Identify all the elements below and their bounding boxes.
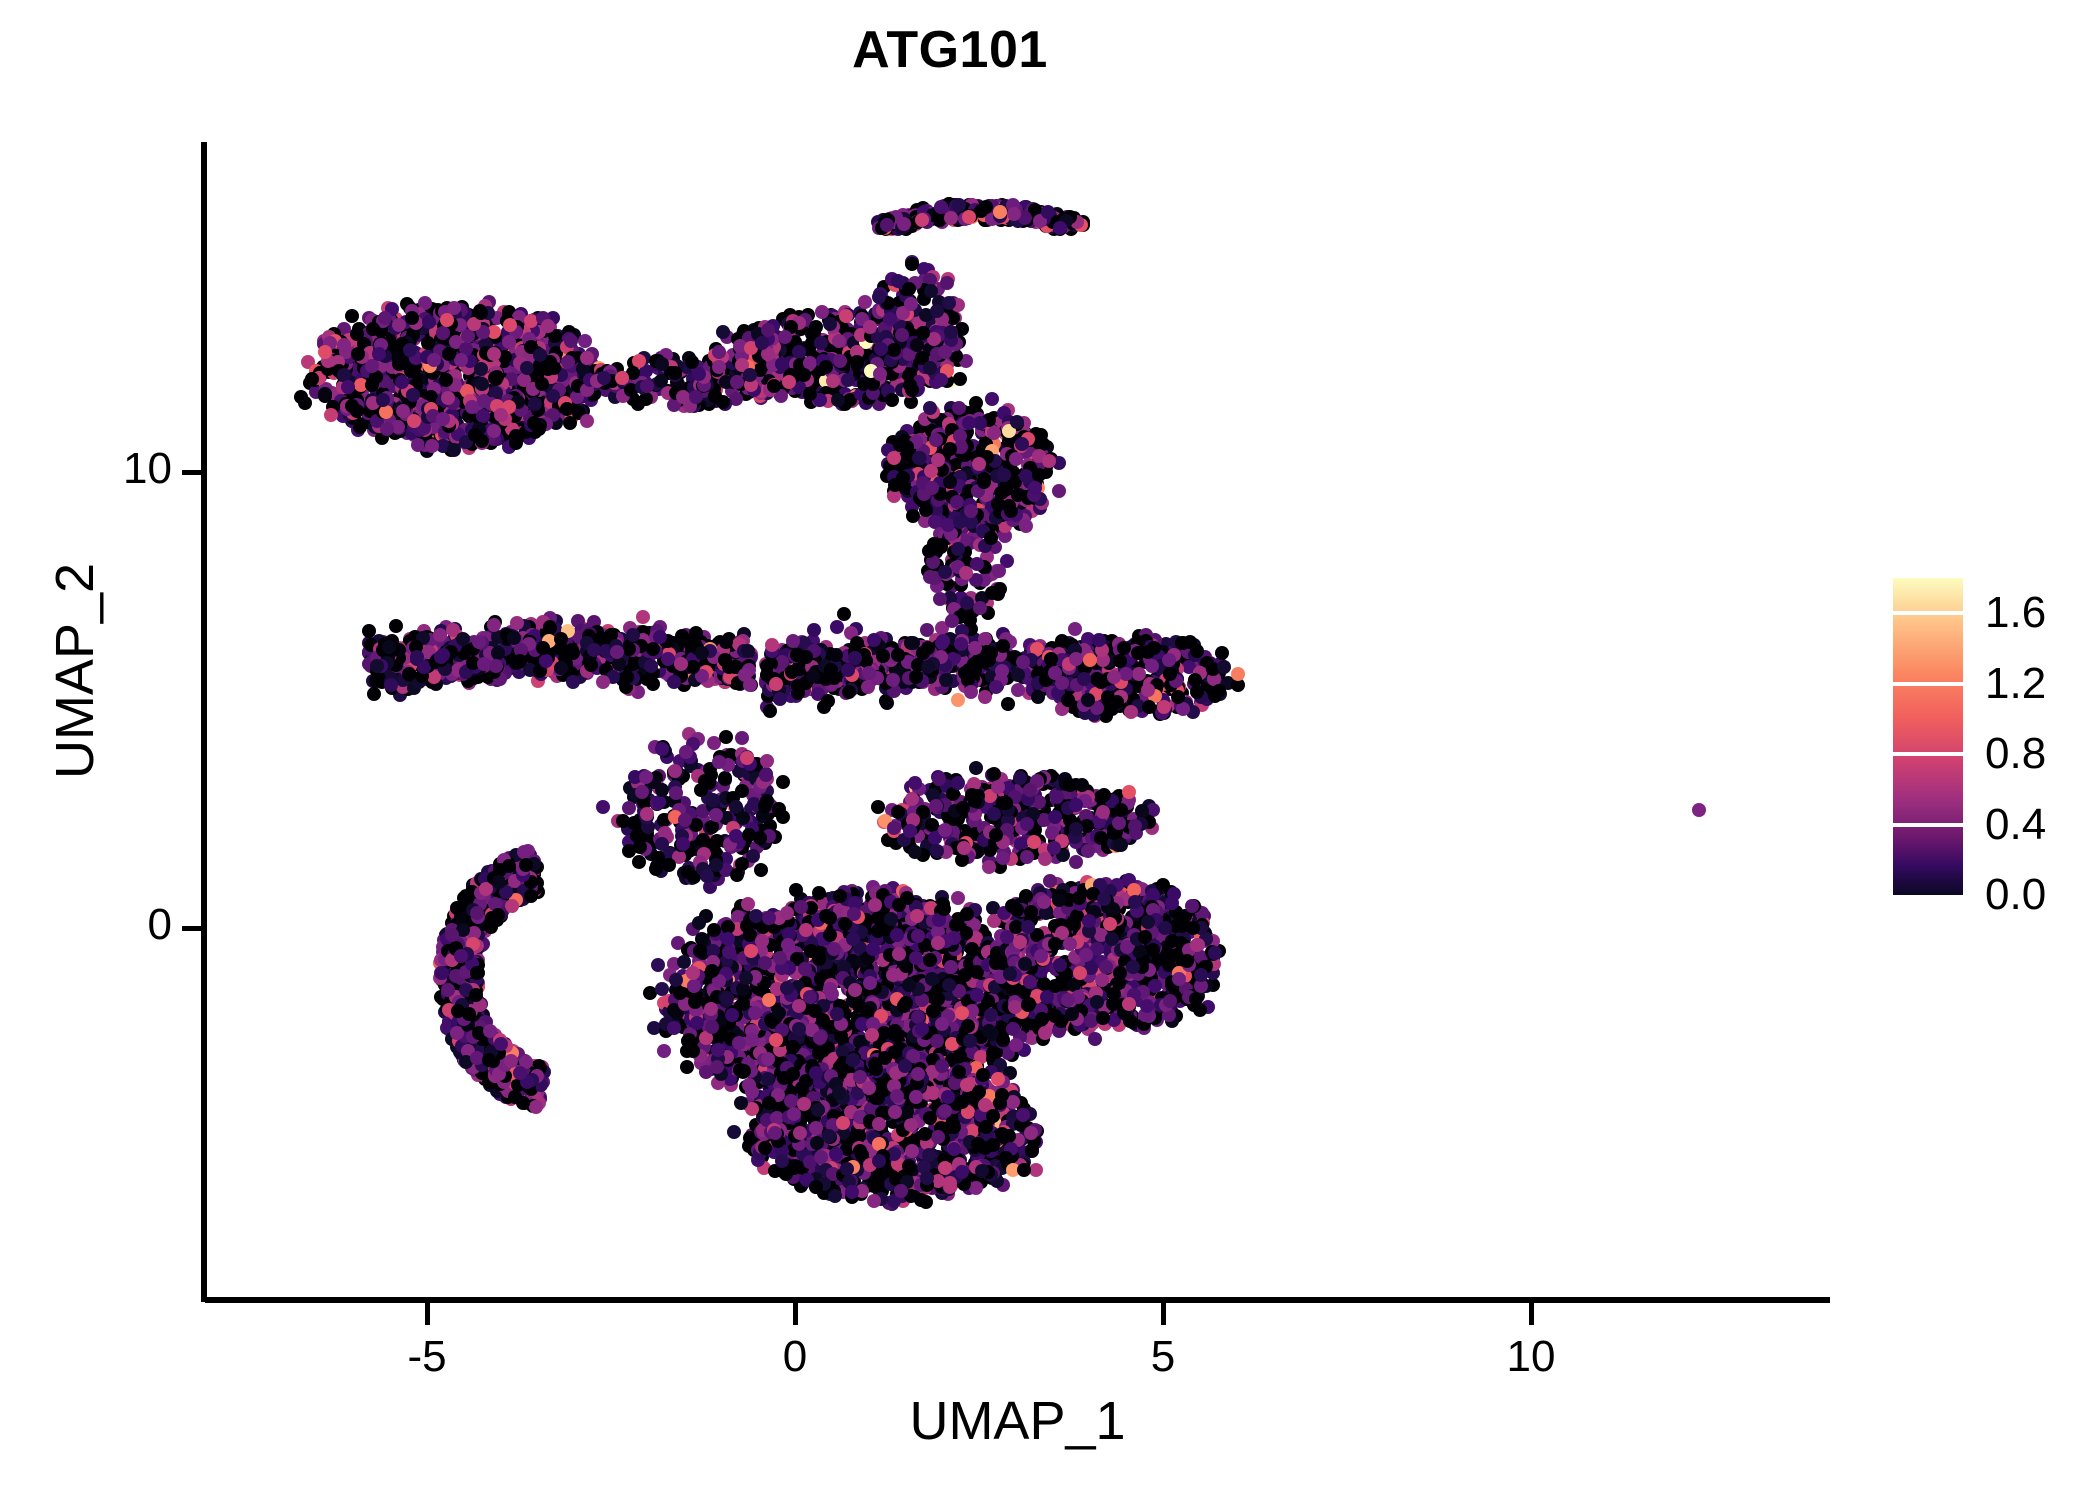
scatter-point [580, 351, 594, 365]
scatter-point [719, 635, 733, 649]
scatter-point [912, 451, 926, 465]
scatter-point [876, 649, 890, 663]
scatter-point [826, 374, 840, 388]
scatter-point [1190, 644, 1204, 658]
scatter-point [964, 685, 978, 699]
scatter-point [661, 652, 675, 666]
scatter-point [938, 565, 952, 579]
scatter-point [646, 642, 660, 656]
scatter-point [370, 659, 384, 673]
scatter-point [962, 416, 976, 430]
scatter-point [1107, 670, 1121, 684]
scatter-point [1131, 646, 1145, 660]
scatter-point [1019, 519, 1033, 533]
scatter-point [831, 393, 845, 407]
scatter-point [475, 377, 489, 391]
scatter-point [580, 414, 594, 428]
scatter-point [353, 420, 367, 434]
scatter-point [490, 370, 504, 384]
scatter-point [1162, 653, 1176, 667]
scatter-point [906, 509, 920, 523]
scatter-point [960, 596, 974, 610]
scatter-point [867, 633, 881, 647]
scatter-point [905, 257, 919, 271]
scatter-point [1163, 667, 1177, 681]
scatter-point [456, 632, 470, 646]
scatter-point [1068, 622, 1082, 636]
scatter-point [848, 651, 862, 665]
scatter-point [858, 295, 872, 309]
scatter-point [1188, 673, 1202, 687]
scatter-point [475, 434, 489, 448]
scatter-point [953, 515, 967, 529]
scatter-point [439, 373, 453, 387]
scatter-point [931, 453, 945, 467]
scatter-point [461, 329, 475, 343]
umap-feature-plot: ATG101 010-50510 UMAP_1 UMAP_2 1.61.20.8… [0, 0, 2100, 1500]
scatter-point [489, 659, 503, 673]
scatter-point [891, 648, 905, 662]
scatter-point [996, 639, 1010, 653]
scatter-point [389, 619, 403, 633]
scatter-point [1212, 684, 1226, 698]
scatter-point [792, 345, 806, 359]
scatter-point [841, 373, 855, 387]
scatter-point [554, 661, 568, 675]
scatter-point [474, 306, 488, 320]
scatter-point [782, 375, 796, 389]
scatter-point [1083, 653, 1097, 667]
scatter-point [969, 396, 983, 410]
scatter-point [934, 373, 948, 387]
scatter-point [973, 601, 987, 615]
scatter-point [952, 401, 966, 415]
scatter-point [692, 367, 706, 381]
scatter-point [923, 401, 937, 415]
scatter-point [434, 650, 448, 664]
scatter-point [718, 653, 732, 667]
scatter-point [791, 679, 805, 693]
scatter-point [872, 290, 886, 304]
scatter-point [527, 416, 541, 430]
scatter-point [472, 635, 486, 649]
scatter-point [769, 677, 783, 691]
scatter-point [596, 675, 610, 689]
scatter-point [1217, 660, 1231, 674]
scatter-point [1092, 633, 1106, 647]
scatter-point [610, 645, 624, 659]
scatter-point [916, 646, 930, 660]
scatter-point [337, 338, 351, 352]
scatter-point [1053, 221, 1067, 235]
scatter-point [557, 645, 571, 659]
scatter-point [640, 379, 654, 393]
scatter-point [904, 297, 918, 311]
scatter-point [944, 211, 958, 225]
scatter-point [767, 379, 781, 393]
scatter-point [674, 657, 688, 671]
scatter-point [639, 392, 653, 406]
scatter-point [474, 362, 488, 376]
scatter-point [880, 218, 894, 232]
scatter-point [862, 666, 876, 680]
scatter-point [380, 422, 394, 436]
scatter-point [819, 360, 833, 374]
scatter-point [1124, 705, 1138, 719]
scatter-point [821, 694, 835, 708]
scatter-point [842, 685, 856, 699]
scatter-point [833, 354, 847, 368]
scatter-point [984, 531, 998, 545]
scatter-point [1002, 499, 1016, 513]
scatter-point [909, 670, 923, 684]
scatter-point [487, 424, 501, 438]
scatter-point [829, 648, 843, 662]
scatter-point [902, 282, 916, 296]
scatter-point [345, 309, 359, 323]
scatter-point [1147, 641, 1161, 655]
scatter-point [1019, 469, 1033, 483]
scatter-point [823, 317, 837, 331]
scatter-point [989, 680, 1003, 694]
scatter-point [850, 355, 864, 369]
scatter-point [318, 387, 332, 401]
scatter-point [962, 210, 976, 224]
scatter-point [384, 678, 398, 692]
scatter-point [410, 650, 424, 664]
scatter-point [797, 368, 811, 382]
scatter-point [938, 345, 952, 359]
scatter-point [880, 696, 894, 710]
scatter-point [566, 675, 580, 689]
scatter-point [934, 200, 948, 214]
scatter-point [476, 409, 490, 423]
scatter-point [830, 620, 844, 634]
scatter-point [982, 653, 996, 667]
scatter-point [487, 618, 501, 632]
scatter-point [560, 402, 574, 416]
scatter-point [350, 404, 364, 418]
scatter-point [1117, 641, 1131, 655]
scatter-point [1110, 695, 1124, 709]
scatter-point [886, 673, 900, 687]
scatter-point [943, 475, 957, 489]
scatter-point [1190, 685, 1204, 699]
scatter-point [305, 372, 319, 386]
scatter-point [503, 318, 517, 332]
scatter-point [1145, 659, 1159, 673]
scatter-point [952, 198, 966, 212]
scatter-point [824, 663, 838, 677]
scatter-point [636, 610, 650, 624]
scatter-point [578, 334, 592, 348]
scatter-point [985, 392, 999, 406]
scatter-point [405, 311, 419, 325]
scatter-point [366, 322, 380, 336]
scatter-point [541, 319, 555, 333]
scatter-point [403, 343, 417, 357]
scatter-point [716, 325, 730, 339]
scatter-point [454, 353, 468, 367]
scatter-point [1141, 683, 1155, 697]
scatter-point [803, 387, 817, 401]
scatter-point [730, 375, 744, 389]
scatter-point [465, 400, 479, 414]
scatter-point [620, 670, 634, 684]
scatter-point [897, 217, 911, 231]
scatter-point [407, 414, 421, 428]
scatter-point [763, 704, 777, 718]
scatter-point [992, 564, 1006, 578]
scatter-point [885, 393, 899, 407]
scatter-point [382, 640, 396, 654]
scatter-point [1113, 654, 1127, 668]
scatter-point [442, 347, 456, 361]
scatter-point [895, 328, 909, 342]
scatter-point [1011, 683, 1025, 697]
scatter-point [950, 495, 964, 509]
scatter-point [528, 397, 542, 411]
scatter-point [940, 276, 954, 290]
scatter-point [676, 390, 690, 404]
scatter-point [987, 426, 1001, 440]
scatter-point [1055, 676, 1069, 690]
scatter-point [738, 668, 752, 682]
scatter-point [535, 377, 549, 391]
scatter-point [563, 416, 577, 430]
scatter-point [953, 372, 967, 386]
scatter-point [402, 667, 416, 681]
scatter-point [933, 592, 947, 606]
scatter-point [773, 692, 787, 706]
scatter-point [615, 371, 629, 385]
scatter-point [930, 304, 944, 318]
scatter-point [814, 336, 828, 350]
scatter-point [755, 336, 769, 350]
scatter-point [1015, 437, 1029, 451]
scatter-point [298, 396, 312, 410]
scatter-point [874, 342, 888, 356]
scatter-point [695, 646, 709, 660]
scatter-point [807, 623, 821, 637]
scatter-point [945, 614, 959, 628]
scatter-point [668, 366, 682, 380]
scatter-point [925, 481, 939, 495]
scatter-point [1032, 468, 1046, 482]
scatter-point [367, 687, 381, 701]
scatter-point [959, 566, 973, 580]
scatter-point [923, 361, 937, 375]
scatter-point [951, 693, 965, 707]
scatter-point [837, 607, 851, 621]
scatter-point [1052, 484, 1066, 498]
scatter-point [951, 542, 965, 556]
scatter-point [411, 438, 425, 452]
scatter-point [1001, 697, 1015, 711]
scatter-point [644, 659, 658, 673]
scatter-point [997, 468, 1011, 482]
scatter-point [993, 205, 1007, 219]
scatter-point [491, 646, 505, 660]
scatter-point [1016, 655, 1030, 669]
scatter-plot-panel[interactable] [205, 142, 1830, 1300]
scatter-point [425, 439, 439, 453]
scatter-point [511, 430, 525, 444]
scatter-point [1215, 646, 1229, 660]
scatter-point [487, 347, 501, 361]
scatter-point [513, 654, 527, 668]
page-title: ATG101 [0, 20, 1900, 80]
scatter-point [626, 628, 640, 642]
scatter-point [741, 644, 755, 658]
scatter-point [655, 357, 669, 371]
